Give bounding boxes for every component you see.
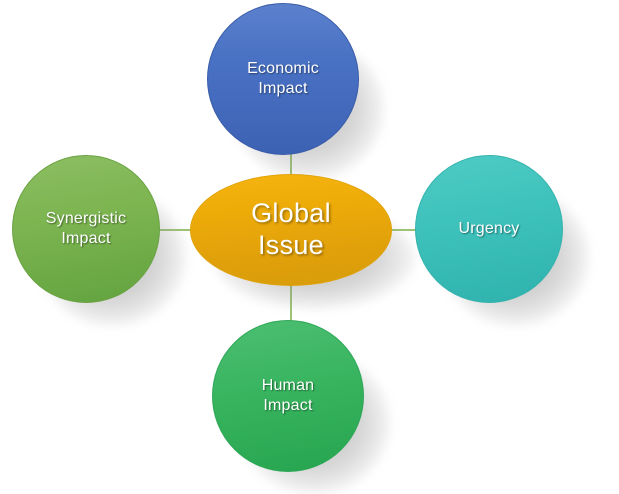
node-economic-impact-label: Economic Impact bbox=[239, 59, 327, 99]
node-human-impact[interactable]: Human Impact bbox=[212, 320, 364, 472]
node-human-impact-label: Human Impact bbox=[254, 376, 323, 416]
node-urgency[interactable]: Urgency bbox=[415, 155, 563, 303]
node-economic-impact[interactable]: Economic Impact bbox=[207, 3, 359, 155]
concept-diagram: Economic Impact Synergistic Impact Urgen… bbox=[0, 0, 619, 480]
node-global-issue-label: Global Issue bbox=[243, 198, 339, 262]
node-global-issue[interactable]: Global Issue bbox=[190, 174, 392, 286]
connector-center-to-human bbox=[290, 283, 292, 321]
node-urgency-label: Urgency bbox=[451, 219, 528, 239]
node-synergistic-impact[interactable]: Synergistic Impact bbox=[12, 155, 160, 303]
node-synergistic-impact-label: Synergistic Impact bbox=[38, 209, 134, 249]
